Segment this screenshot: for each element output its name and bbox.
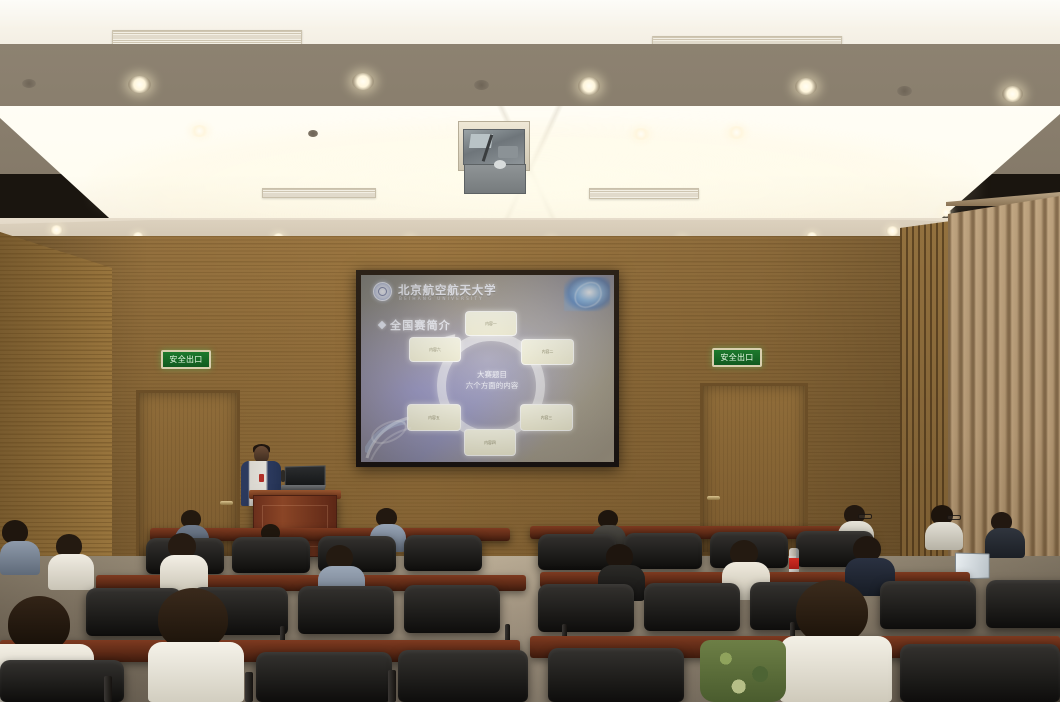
ceiling-downlight <box>578 77 600 95</box>
university-logo-icon <box>373 282 392 301</box>
camouflage-backpack[interactable] <box>700 640 786 702</box>
person-torso <box>160 555 208 591</box>
person-head <box>796 580 868 644</box>
cycle-center-label: 大赛题目 六个方面的内容 <box>449 370 535 392</box>
seat-support-post <box>104 676 112 702</box>
emergency-exit-sign-left: 安全出口 <box>161 350 211 369</box>
door-handle-icon <box>220 501 233 505</box>
seat[interactable] <box>232 537 310 573</box>
person-torso <box>148 642 244 702</box>
projected-slide: 北京航空航天大学 BEIHANG UNIVERSITY 全国赛简介 大赛题目 六… <box>361 275 614 462</box>
seat-front[interactable] <box>398 650 528 702</box>
cycle-center-line2: 六个方面的内容 <box>449 381 535 392</box>
ceiling-downlight-off <box>897 86 912 96</box>
door-handle-icon <box>707 496 720 500</box>
person-head <box>158 588 228 650</box>
eyeglasses-icon <box>947 515 961 520</box>
ceiling-downlight <box>1002 86 1023 102</box>
ceiling-downlight <box>795 78 817 95</box>
presenter-badge <box>259 474 264 482</box>
person-torso <box>48 554 94 590</box>
exit-sign-text: 安全出口 <box>720 352 753 363</box>
microphone-icon <box>281 470 285 482</box>
slide-ribbon-graphic-icon <box>365 408 443 460</box>
seat[interactable] <box>298 586 394 634</box>
seat-support-post <box>245 672 253 702</box>
ceiling-downlight <box>886 226 899 236</box>
seat[interactable] <box>404 535 482 571</box>
exit-sign-text: 安全出口 <box>169 354 202 365</box>
seat[interactable] <box>538 584 634 632</box>
diamond-bullet-icon <box>378 321 386 329</box>
ceiling-downlight-off <box>474 80 489 90</box>
ceiling-downlight <box>352 73 374 90</box>
seat-front[interactable] <box>548 648 684 702</box>
blue-swirl-graphic-icon <box>564 277 610 311</box>
slide-title-row: 全国赛简介 <box>379 317 451 333</box>
seat[interactable] <box>986 580 1060 628</box>
air-vent <box>262 188 376 198</box>
air-vent <box>589 188 699 199</box>
seat[interactable] <box>644 583 740 631</box>
lecture-hall-photo: 安全出口 安全出口 北京航空航天大学 BEIHANG UNIVERSITY 全国… <box>0 0 1060 702</box>
recessed-light-off <box>308 130 318 137</box>
emergency-exit-sign-right: 安全出口 <box>712 348 762 367</box>
recessed-light <box>190 125 209 137</box>
ceiling-downlight-off <box>22 79 36 88</box>
cycle-box-top: 内容一 <box>465 311 517 336</box>
cycle-box-bottom: 内容四 <box>464 429 516 456</box>
water-bottle-label <box>789 558 799 569</box>
eyeglasses-icon <box>858 514 872 519</box>
recessed-light <box>632 128 650 140</box>
seat[interactable] <box>538 534 616 570</box>
ceiling-cove-glow <box>90 120 980 230</box>
person-torso <box>0 541 40 575</box>
seat-support-post <box>388 670 396 702</box>
projector-lift-mechanism <box>463 129 525 165</box>
cycle-box-lower-right: 内容三 <box>520 404 573 431</box>
seat[interactable] <box>404 585 500 633</box>
ceiling-downlight <box>50 225 63 235</box>
recessed-light <box>727 126 746 139</box>
person-torso <box>925 522 963 550</box>
person-torso <box>780 636 892 702</box>
seat[interactable] <box>880 581 976 629</box>
cycle-box-upper-right: 内容二 <box>521 339 574 365</box>
cycle-box-upper-left: 内容六 <box>409 337 461 362</box>
projection-screen-frame: 北京航空航天大学 BEIHANG UNIVERSITY 全国赛简介 大赛题目 六… <box>356 270 619 467</box>
projector-lens <box>494 160 506 169</box>
cycle-center-line1: 大赛题目 <box>449 370 535 381</box>
ceiling-downlight <box>128 76 151 93</box>
slide-section-title: 全国赛简介 <box>390 317 451 333</box>
ceiling-projector <box>464 164 526 194</box>
person-torso <box>985 528 1025 558</box>
seat[interactable] <box>624 533 702 569</box>
seat-front[interactable] <box>256 652 392 702</box>
slide-university-name-en: BEIHANG UNIVERSITY <box>399 296 484 301</box>
seat-front[interactable] <box>900 644 1060 702</box>
